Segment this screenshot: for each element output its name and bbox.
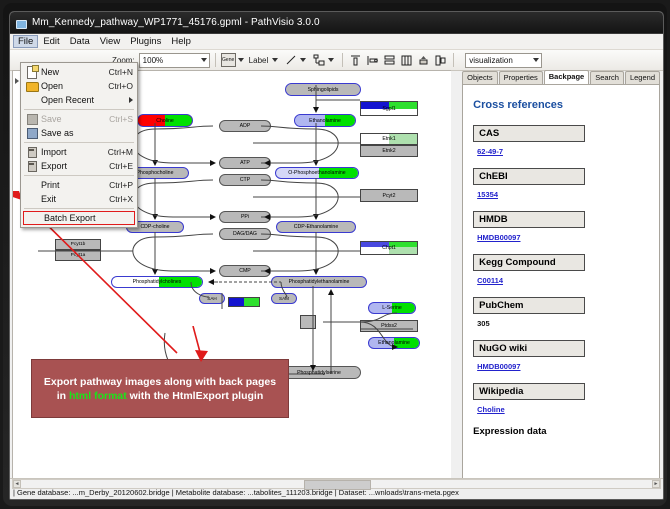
save-disk-icon: [25, 113, 39, 125]
align-top-icon[interactable]: [348, 53, 363, 68]
save-as-icon: [25, 127, 39, 139]
xref-value-chebi[interactable]: 15354: [477, 190, 649, 199]
xref-value-pubchem: 305: [477, 319, 649, 328]
cross-references-title: Cross references: [473, 99, 649, 111]
datanode-tool-button[interactable]: Gene: [221, 53, 236, 67]
window-title: Mm_Kennedy_pathway_WP1771_45176.gpml - P…: [32, 17, 320, 28]
status-bar-text: | Gene database: ...m_Derby_20120602.bri…: [13, 488, 459, 497]
toolbar-separator-2: [342, 53, 343, 67]
backpage-content: Cross references CAS 62-49-7 ChEBI 15354…: [462, 84, 660, 479]
tab-properties[interactable]: Properties: [499, 71, 543, 84]
toolbar-separator: [215, 53, 216, 67]
side-panel-tabs: Objects Properties Backpage Search Legen…: [454, 70, 660, 84]
menu-separator-3: [24, 175, 134, 176]
submenu-arrow-icon: [129, 97, 133, 103]
menu-help[interactable]: Help: [166, 35, 196, 48]
annotation-callout-text: Export pathway images along with back pa…: [32, 375, 288, 403]
no-icon-4: [28, 212, 42, 224]
align-left-icon[interactable]: [365, 53, 380, 68]
line-tool-button[interactable]: [283, 53, 298, 68]
annotation-callout: Export pathway images along with back pa…: [31, 359, 289, 418]
export-icon: [25, 160, 39, 172]
callout-highlight: html format: [69, 390, 127, 402]
xref-header-kegg-compound: Kegg Compound: [473, 254, 585, 271]
menu-item-exit[interactable]: Exit Ctrl+X: [21, 192, 137, 206]
visualization-combo[interactable]: visualization: [465, 53, 542, 68]
menu-plugins[interactable]: Plugins: [125, 35, 166, 48]
pathvisio-icon: [15, 17, 27, 29]
size-equal-icon[interactable]: [399, 53, 414, 68]
file-menu-dropdown[interactable]: New Ctrl+N Open Ctrl+O Open Recent Save …: [20, 62, 138, 228]
open-folder-icon: [25, 80, 39, 92]
xref-header-cas: CAS: [473, 125, 585, 142]
tab-objects[interactable]: Objects: [462, 71, 497, 84]
menu-item-batch-export[interactable]: Batch Export: [23, 211, 135, 225]
menu-separator-2: [24, 142, 134, 143]
scroll-right-arrow-icon[interactable]: ►: [652, 480, 660, 488]
chevron-down-icon-2: [533, 58, 539, 62]
pathvisio-application-window: Mm_Kennedy_pathway_WP1771_45176.gpml - P…: [9, 11, 664, 500]
menu-item-export[interactable]: Export Ctrl+E: [21, 159, 137, 173]
screenshot-root: Mm_Kennedy_pathway_WP1771_45176.gpml - P…: [0, 0, 670, 509]
menu-item-new[interactable]: New Ctrl+N: [21, 65, 137, 79]
menu-file[interactable]: File: [13, 35, 38, 48]
import-icon: [25, 146, 39, 158]
visualization-value: visualization: [469, 56, 513, 65]
side-panel: Objects Properties Backpage Search Legen…: [454, 70, 660, 479]
annotation-arrow-down: [173, 326, 233, 366]
no-icon-3: [25, 193, 39, 205]
callout-text-after: with the HtmlExport plugin: [127, 390, 264, 402]
no-icon-2: [25, 179, 39, 191]
menu-edit[interactable]: Edit: [38, 35, 64, 48]
menu-separator: [24, 109, 134, 110]
menu-item-open-recent[interactable]: Open Recent: [21, 93, 137, 107]
menu-data[interactable]: Data: [65, 35, 95, 48]
tab-search[interactable]: Search: [590, 71, 624, 84]
xref-value-hmdb[interactable]: HMDB00097: [477, 233, 649, 242]
expression-data-title: Expression data: [473, 426, 649, 437]
bring-front-icon[interactable]: [416, 53, 431, 68]
tab-legend[interactable]: Legend: [625, 71, 660, 84]
tab-backpage[interactable]: Backpage: [544, 70, 589, 84]
line-dropdown-icon[interactable]: [300, 58, 306, 62]
xref-header-nugo-wiki: NuGO wiki: [473, 340, 585, 357]
zoom-value: 100%: [143, 56, 163, 65]
chevron-down-icon: [201, 58, 207, 62]
stack-center-icon[interactable]: [382, 53, 397, 68]
xref-value-wikipedia[interactable]: Choline: [477, 405, 649, 414]
toolbar-separator-3: [453, 53, 454, 67]
send-back-icon[interactable]: [433, 53, 448, 68]
interaction-tool-button[interactable]: [311, 53, 326, 68]
title-bar: Mm_Kennedy_pathway_WP1771_45176.gpml - P…: [10, 12, 663, 34]
scroll-left-arrow-icon[interactable]: ◄: [13, 480, 21, 488]
xref-value-nugo-wiki[interactable]: HMDB00097: [477, 362, 649, 371]
new-file-icon: [25, 66, 39, 78]
menu-item-print[interactable]: Print Ctrl+P: [21, 178, 137, 192]
menu-bar: File Edit Data View Plugins Help: [10, 34, 663, 50]
datanode-dropdown-icon[interactable]: [238, 58, 244, 62]
no-icon: [25, 94, 39, 106]
xref-header-hmdb: HMDB: [473, 211, 585, 228]
menu-item-open[interactable]: Open Ctrl+O: [21, 79, 137, 93]
menu-view[interactable]: View: [95, 35, 125, 48]
menu-separator-4: [24, 208, 134, 209]
xref-value-cas[interactable]: 62-49-7: [477, 147, 649, 156]
zoom-combo[interactable]: 100%: [139, 53, 210, 68]
menu-item-save-as[interactable]: Save as: [21, 126, 137, 140]
label-tool-button[interactable]: Label: [249, 56, 269, 65]
label-dropdown-icon[interactable]: [272, 58, 278, 62]
xref-header-wikipedia: Wikipedia: [473, 383, 585, 400]
interaction-dropdown-icon[interactable]: [328, 58, 334, 62]
menu-item-import[interactable]: Import Ctrl+M: [21, 145, 137, 159]
status-bar: ◄ ► | Gene database: ...m_Derby_20120602…: [10, 478, 663, 499]
menu-item-save: Save Ctrl+S: [21, 112, 137, 126]
xref-header-pubchem: PubChem: [473, 297, 585, 314]
xref-header-chebi: ChEBI: [473, 168, 585, 185]
xref-value-kegg-compound[interactable]: C00114: [477, 276, 649, 285]
